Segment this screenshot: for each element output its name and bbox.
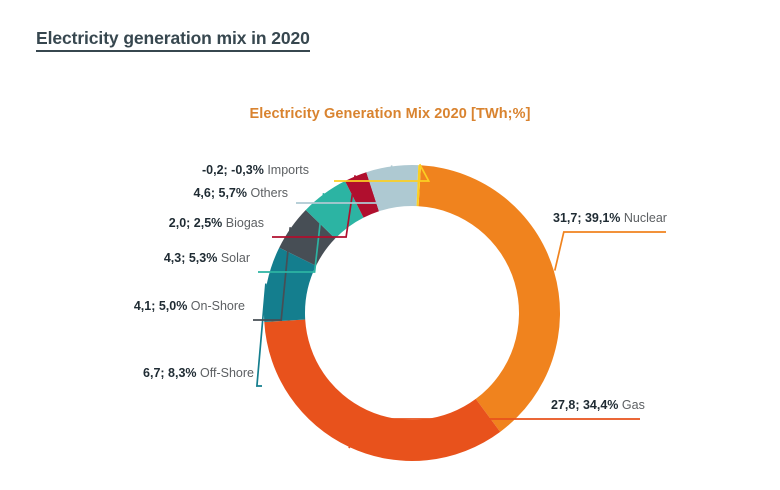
donut-slice-nuclear[interactable]	[419, 165, 560, 432]
donut-chart	[0, 0, 780, 490]
data-label-nuclear: 31,7; 39,1% Nuclear	[553, 211, 667, 225]
page-root: Electricity generation mix in 2020 Elect…	[0, 0, 780, 490]
data-label-name: Biogas	[222, 216, 264, 230]
data-label-name: Gas	[618, 398, 644, 412]
data-label-value: 27,8; 34,4%	[551, 398, 618, 412]
data-label-name: Imports	[264, 163, 309, 177]
data-label-name: Solar	[217, 251, 250, 265]
data-label-name: Others	[247, 186, 288, 200]
data-label-imports: -0,2; -0,3% Imports	[202, 163, 309, 177]
data-label-name: Off-Shore	[197, 366, 254, 380]
data-label-off-shore: 6,7; 8,3% Off-Shore	[143, 366, 254, 380]
data-label-others: 4,6; 5,7% Others	[193, 186, 288, 200]
donut-chart-svg	[0, 0, 780, 490]
data-label-value: -0,2; -0,3%	[202, 163, 264, 177]
data-label-name: On-Shore	[187, 299, 245, 313]
data-label-on-shore: 4,1; 5,0% On-Shore	[134, 299, 245, 313]
data-label-value: 4,6; 5,7%	[193, 186, 247, 200]
data-label-value: 2,0; 2,5%	[169, 216, 223, 230]
data-label-biogas: 2,0; 2,5% Biogas	[169, 216, 264, 230]
data-label-value: 4,1; 5,0%	[134, 299, 188, 313]
data-label-value: 31,7; 39,1%	[553, 211, 620, 225]
data-label-value: 6,7; 8,3%	[143, 366, 197, 380]
leader-line-off-shore	[257, 284, 266, 386]
data-label-name: Nuclear	[620, 211, 667, 225]
donut-slice-group	[264, 165, 560, 461]
data-label-value: 4,3; 5,3%	[164, 251, 218, 265]
data-label-solar: 4,3; 5,3% Solar	[164, 251, 250, 265]
leader-line-nuclear	[555, 232, 666, 271]
donut-slice-gas[interactable]	[264, 319, 500, 461]
data-label-gas: 27,8; 34,4% Gas	[551, 398, 645, 412]
